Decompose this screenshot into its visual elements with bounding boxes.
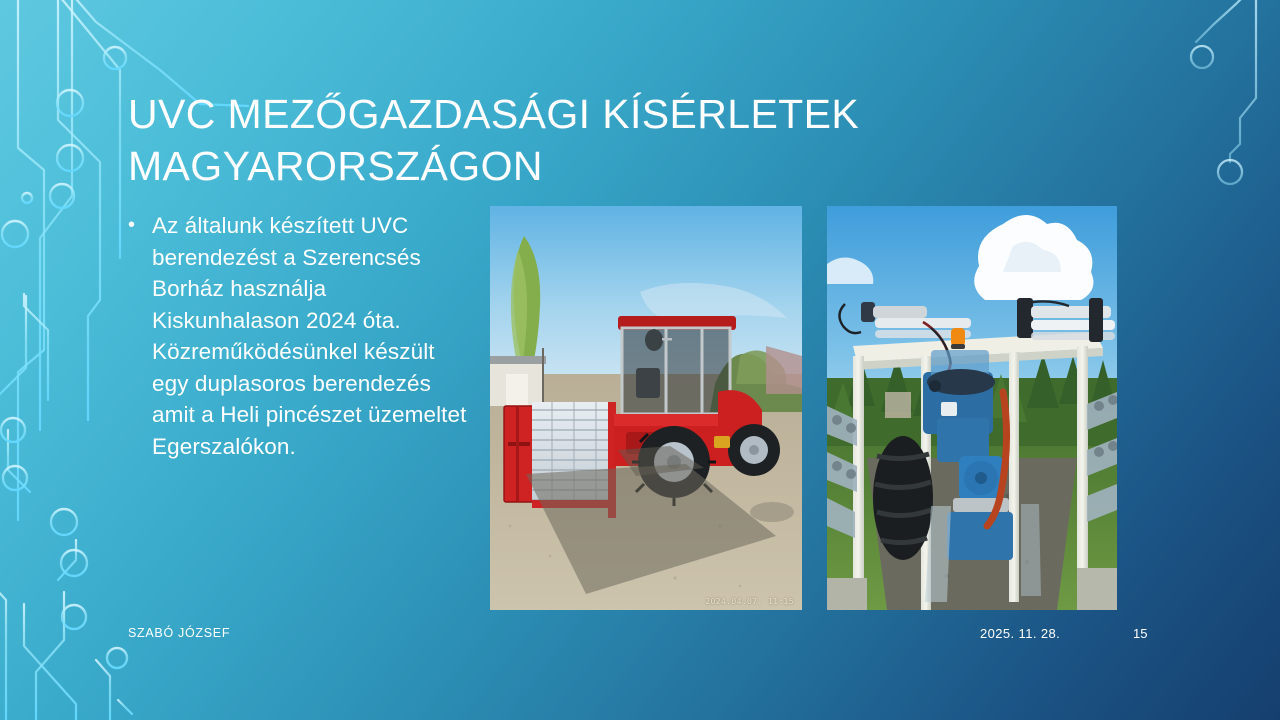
bullet-text: Az általunk készített UVC berendezést a … [152,210,468,462]
photo-timestamp: 2024.04.07. 11:15 [705,597,794,606]
footer-page-number: 15 [1133,626,1147,641]
slide-title: UVC mezőgazdasági kísérletek Magyarorszá… [128,88,1008,193]
footer-date: 2025. 11. 28. [980,626,1060,641]
list-item: • Az általunk készített UVC berendezést … [128,210,468,462]
photo-double-row-uvc-equipment-on-tractor [827,206,1117,610]
bullet-marker: • [128,210,152,241]
slide-body: • Az általunk készített UVC berendezést … [128,210,468,462]
presentation-slide: UVC mezőgazdasági kísérletek Magyarorszá… [0,0,1280,720]
photo-red-uvc-equipment-on-tractor: 2024.04.07. 11:15 [490,206,802,610]
footer-author: Szabó József [128,626,230,640]
